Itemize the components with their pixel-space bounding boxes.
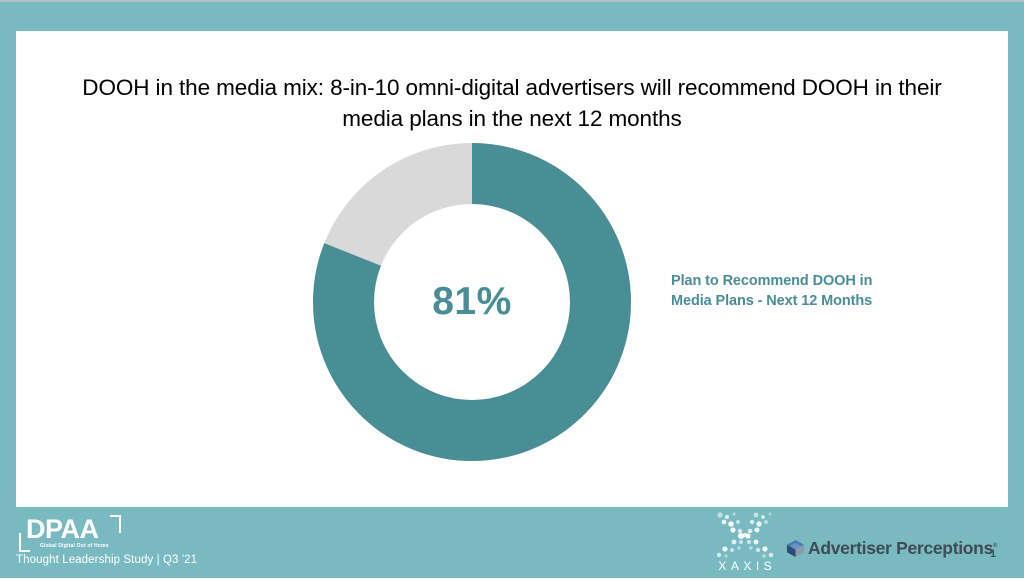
xaxis-wordmark: XAXIS (703, 559, 787, 573)
slide: DOOH in the media mix: 8-in-10 omni-digi… (0, 0, 1024, 578)
dpaa-tagline: Global Digital Out of Home (40, 543, 109, 549)
bracket-top-right-icon (110, 515, 121, 533)
chart-legend: Plan to Recommend DOOH in Media Plans - … (671, 271, 941, 311)
advertiser-perceptions-cube-icon (786, 539, 805, 558)
xaxis-logo: XAXIS (703, 511, 787, 577)
advertiser-perceptions-wordmark: Advertiser Perceptions® (808, 538, 997, 559)
donut-svg (313, 143, 631, 461)
slide-content-card: DOOH in the media mix: 8-in-10 omni-digi… (16, 31, 1008, 507)
legend-label-line2: Media Plans - Next 12 Months (671, 291, 941, 311)
xaxis-x-dots-icon (703, 511, 787, 559)
slide-footer: DPAA Global Digital Out of Home Thought … (0, 507, 1024, 580)
dpaa-wordmark: DPAA (26, 516, 99, 543)
donut-chart-graphic: 81% (313, 143, 631, 461)
dpaa-logo: DPAA Global Digital Out of Home (18, 515, 126, 553)
advertiser-perceptions-logo: Advertiser Perceptions® (786, 537, 997, 559)
page-number: 1 (990, 548, 996, 560)
donut-chart: 81% Plan to Recommend DOOH in Media Plan… (16, 31, 1008, 507)
legend-label-line1: Plan to Recommend DOOH in (671, 271, 941, 291)
footer-caption: Thought Leadership Study | Q3 '21 (16, 554, 197, 566)
